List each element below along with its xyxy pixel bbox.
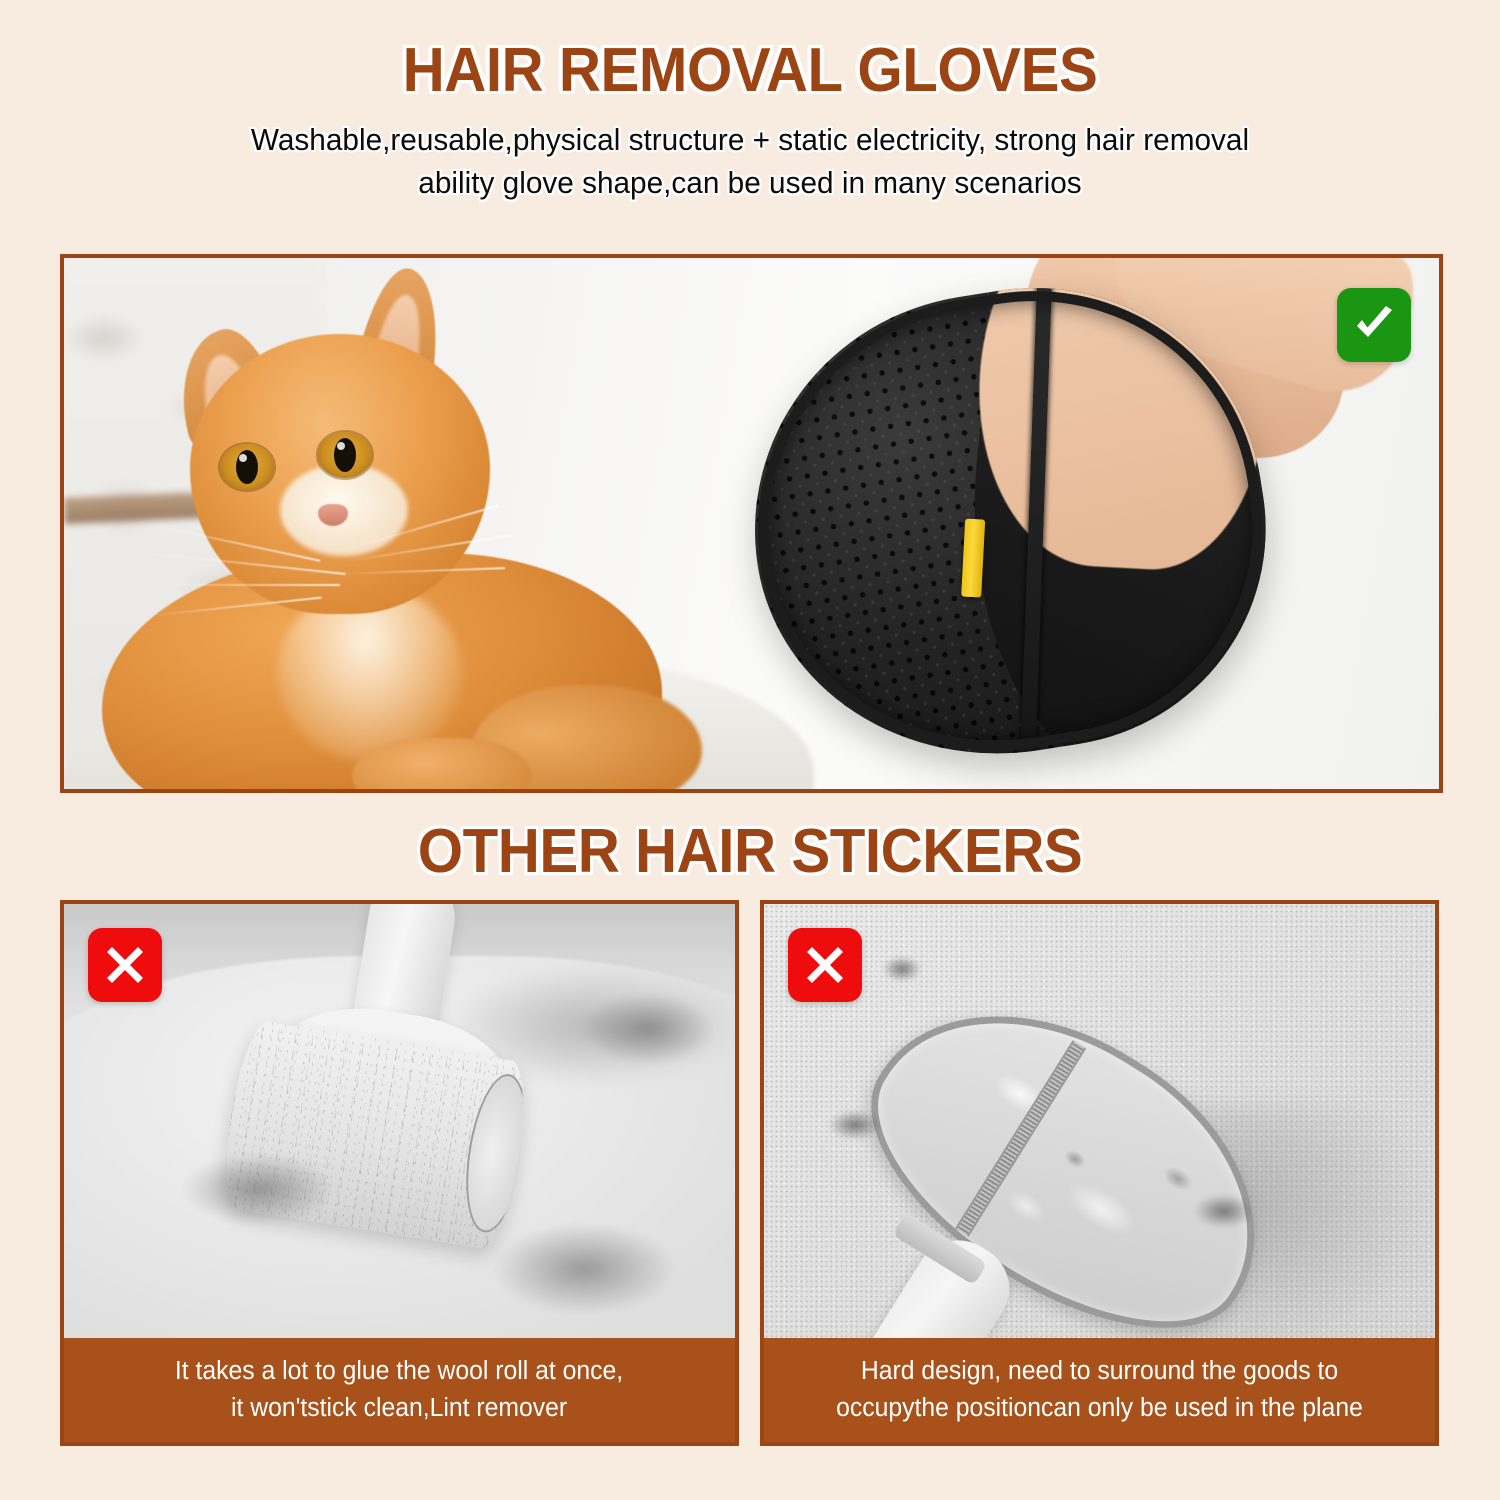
section-title-other-hair-stickers: OTHER HAIR STICKERS [45,816,1455,887]
hair-clump [184,1154,334,1224]
cat-whiskers [132,518,492,668]
page-subtitle: Washable,reusable,physical structure + s… [30,119,1470,205]
cat-pupil-right [334,438,356,472]
shaver-blade [955,1041,1086,1238]
caption-line-1: Hard design, need to surround the goods … [836,1353,1363,1390]
hero-product-panel [60,254,1443,793]
panel-caption: It takes a lot to glue the wool roll at … [64,1338,735,1442]
lint-speck [1194,1194,1254,1228]
caption-line-1: It takes a lot to glue the wool roll at … [175,1353,623,1390]
subtitle-line-2: ability glove shape,can be used in many … [30,162,1470,205]
fuzz-shaver-photo [764,904,1435,1338]
red-x-icon [788,928,862,1002]
lint-speck [882,956,922,982]
lint-roller-photo [64,904,735,1338]
red-x-icon [88,928,162,1002]
cat-pupil-left [236,450,258,484]
green-check-icon [1337,288,1411,362]
comparison-panel-fuzz-shaver: Hard design, need to surround the goods … [760,900,1439,1446]
cat-eye-left [220,444,274,490]
header: HAIR REMOVAL GLOVES Washable,reusable,ph… [0,0,1500,205]
hair-clump [584,994,714,1064]
cat-paw [352,738,532,793]
page-title: HAIR REMOVAL GLOVES [45,38,1455,103]
caption-line-2: occupythe positioncan only be used in th… [836,1390,1363,1427]
glove-mitt [721,255,1297,789]
panel-caption: Hard design, need to surround the goods … [764,1338,1435,1442]
lint-speck [828,1110,882,1140]
cat-illustration [102,268,702,793]
cat-eye-right [318,432,372,478]
hero-photo [64,258,1439,789]
hair-removal-glove-illustration [724,254,1443,793]
hair-clump [494,1224,674,1314]
caption-line-2: it won'tstick clean,Lint remover [175,1390,623,1427]
subtitle-line-1: Washable,reusable,physical structure + s… [30,119,1470,162]
comparison-panel-lint-roller: It takes a lot to glue the wool roll at … [60,900,739,1446]
